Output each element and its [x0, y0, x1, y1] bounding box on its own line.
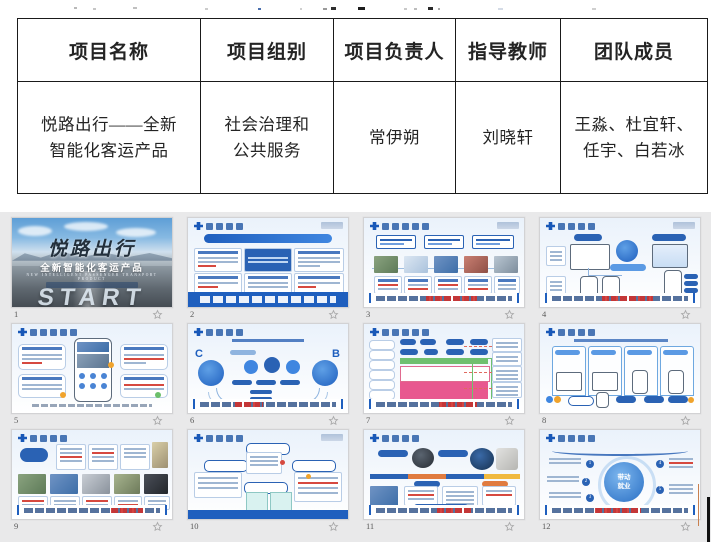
- doc-photo: [152, 442, 168, 468]
- team-members-line-2: 任宇、白若冰: [567, 138, 701, 164]
- slide-number-12: 12: [542, 520, 551, 533]
- photo-thumb: [404, 256, 428, 273]
- phone-photo: [77, 354, 109, 368]
- flow-box: [424, 349, 438, 355]
- flow-box: [470, 349, 488, 355]
- project-group-line-2: 公共服务: [207, 138, 327, 164]
- c-end-label: C: [195, 348, 203, 360]
- phone-icon: [90, 383, 96, 389]
- feature-title: [591, 350, 616, 355]
- tagline-pill: [610, 264, 646, 271]
- slide-6-footer-bar: [193, 399, 343, 409]
- slide-8-heading: [558, 328, 595, 336]
- photo-thumb: [494, 256, 518, 273]
- slide-5-footer-text: [32, 404, 152, 407]
- header-project-group: 项目组别: [201, 19, 334, 82]
- slide-meta-1: 1: [12, 308, 171, 321]
- slide-3-heading: [382, 222, 429, 230]
- sidebar-item: [369, 380, 395, 390]
- content-card: [294, 248, 344, 272]
- point-marker-3: 3: [586, 494, 594, 502]
- slide-6-heading: [206, 328, 243, 336]
- slide-meta-4: 4: [540, 308, 699, 321]
- accent-dot: [280, 460, 285, 465]
- phone-mockup: [632, 370, 648, 394]
- slide-preview-10[interactable]: [187, 429, 349, 520]
- cell-advisor: 刘晓轩: [456, 82, 561, 194]
- slide-2-footer-bar: [188, 292, 348, 307]
- header-project-name: 项目名称: [18, 19, 201, 82]
- slide-8-artwork: [540, 324, 700, 413]
- slide-7-heading: [382, 328, 429, 336]
- cell-project-name: 悦路出行——全新 智能化客运产品: [18, 82, 201, 194]
- slide-number-8: 8: [542, 414, 546, 427]
- slide-preview-12[interactable]: 带动就业 1 2 3 4 5: [539, 429, 701, 520]
- slide-6-subtitle: [232, 339, 304, 342]
- brand-logo-icon: [546, 222, 555, 230]
- photo-thumb: [434, 256, 458, 273]
- photo-thumb: [464, 256, 488, 273]
- brand-logo-icon: [194, 434, 203, 442]
- slide-meta-11: 11: [364, 520, 523, 533]
- slide-2-banner: [204, 234, 332, 243]
- point-text: [544, 474, 582, 486]
- project-group-line-1: 社会治理和: [207, 112, 327, 138]
- slide-thumbnail-grid: 悦路出行 全新智能化客运产品 NEW INTELLIGENT PASSENGER…: [11, 217, 701, 534]
- slide-2-heading: [206, 222, 243, 230]
- phone-icon: [90, 373, 96, 379]
- slide-preview-9[interactable]: [11, 429, 173, 520]
- brand-logo-icon: [370, 434, 379, 442]
- slide-10-heading: [206, 434, 243, 442]
- slide-preview-1[interactable]: 悦路出行 全新智能化客运产品 NEW INTELLIGENT PASSENGER…: [11, 217, 173, 308]
- star-outline-icon[interactable]: [152, 309, 163, 320]
- slide-preview-4[interactable]: [539, 217, 701, 308]
- corner-tag: [497, 222, 519, 229]
- step-pill: [616, 396, 636, 403]
- laptop-icon: [556, 372, 582, 391]
- slide-3-footer-bar: [369, 293, 519, 303]
- content-card: [374, 276, 402, 294]
- table-data-row: 悦路出行——全新 智能化客运产品 社会治理和 公共服务 常伊朔 刘晓轩 王淼、杜…: [18, 82, 708, 194]
- star-outline-icon[interactable]: [152, 521, 163, 532]
- photo-thumb: [370, 486, 398, 506]
- point-text: [666, 456, 696, 470]
- feature-card: [120, 344, 168, 370]
- cell-project-leader: 常伊朔: [334, 82, 456, 194]
- photo-circle: [412, 448, 434, 468]
- point-text: [546, 456, 584, 468]
- project-name-line-1: 悦路出行——全新: [24, 112, 194, 138]
- artifact-speck: [205, 8, 208, 10]
- user-icon: [546, 396, 553, 403]
- slide-preview-7[interactable]: [363, 323, 525, 414]
- slide-meta-3: 3: [364, 308, 523, 321]
- slide-7-footer-bar: [369, 399, 519, 409]
- artifact-speck: [438, 8, 440, 10]
- slide-meta-9: 9: [12, 520, 171, 533]
- slide-number-10: 10: [190, 520, 199, 533]
- slide-meta-7: 7: [364, 414, 523, 427]
- slide-meta-5: 5: [12, 414, 171, 427]
- brand-badge-icon: [616, 240, 638, 262]
- laptop-icon: [570, 244, 610, 270]
- accent-dot: [306, 474, 311, 479]
- flow-box: [446, 339, 464, 345]
- slide-thumbnail-10[interactable]: 10: [187, 429, 349, 534]
- side-pill: [684, 281, 698, 286]
- slide-1-english-subtitle: NEW INTELLIGENT PASSENGER TRANSPORT PROD…: [12, 273, 172, 281]
- slide-thumbnail-9[interactable]: 9: [11, 429, 173, 534]
- slide-number-2: 2: [190, 308, 194, 321]
- step-pill: [644, 396, 664, 403]
- b-end-node: [312, 360, 338, 386]
- slide-number-1: 1: [14, 308, 18, 321]
- slide-thumbnail-3[interactable]: 3: [363, 217, 525, 322]
- flow-box: [420, 339, 436, 345]
- side-pill: [684, 274, 698, 279]
- photo-thumb: [496, 448, 518, 470]
- slide-10-artwork: [188, 430, 348, 519]
- slide-meta-2: 2: [188, 308, 347, 321]
- slide-meta-6: 6: [188, 414, 347, 427]
- sidebar-item: [369, 350, 395, 360]
- feature-card: [18, 374, 66, 398]
- slide-11-artwork: [364, 430, 524, 519]
- brand-logo-icon: [194, 222, 203, 230]
- flow-label: [250, 390, 272, 394]
- project-name-line-2: 智能化客运产品: [24, 138, 194, 164]
- partner-count-tag: [20, 448, 48, 462]
- caption-card: [482, 486, 516, 506]
- column-header: [472, 235, 514, 249]
- phone-icon: [79, 383, 85, 389]
- corner-tag: [321, 222, 343, 229]
- artifact-speck: [498, 8, 503, 10]
- monitor-icon: [652, 244, 688, 268]
- artifact-speck: [93, 8, 96, 10]
- doc-thumb: [120, 444, 150, 470]
- point-text: [546, 490, 584, 502]
- diagram-block: [194, 472, 242, 498]
- annotation-leader-line: [464, 372, 492, 373]
- brand-logo-icon: [18, 434, 27, 442]
- slide-thumbnail-7[interactable]: 7: [363, 323, 525, 428]
- slide-meta-10: 10: [188, 520, 347, 533]
- slide-9-heading: [30, 434, 67, 442]
- slide-8-subtitle: [574, 339, 668, 342]
- laptop-icon: [592, 372, 618, 391]
- slide-5-artwork: [12, 324, 172, 413]
- cell-team-members: 王淼、杜宜轩、 任宇、白若冰: [561, 82, 708, 194]
- content-card: [494, 276, 520, 294]
- slide-1-start-word: START: [11, 284, 173, 308]
- artifact-speck: [133, 7, 137, 9]
- slide-1-subtitle: 全新智能化客运产品: [12, 260, 172, 274]
- slide-preview-6[interactable]: C B: [187, 323, 349, 414]
- slide-preview-11[interactable]: [363, 429, 525, 520]
- vehicle-photo: [18, 474, 46, 494]
- slide-12-heading: [558, 434, 595, 442]
- vehicle-photo: [50, 474, 78, 494]
- timeline-seg: [370, 474, 408, 479]
- phone-icon: [79, 373, 85, 379]
- slide-meta-8: 8: [540, 414, 699, 427]
- doc-thumb: [56, 444, 86, 470]
- slide-1-artwork: 悦路出行 全新智能化客运产品 NEW INTELLIGENT PASSENGER…: [12, 218, 172, 307]
- column-header: [424, 235, 464, 249]
- photo-circle: [470, 448, 494, 470]
- annotation-card: [492, 352, 522, 366]
- sidebar-item: [369, 340, 395, 350]
- slide-7-artwork: [364, 324, 524, 413]
- content-card: [404, 276, 432, 294]
- slide-thumbnail-2[interactable]: 2: [187, 217, 349, 322]
- artifact-speck: [323, 8, 327, 10]
- accent-dot: [108, 362, 114, 368]
- slide-thumbnail-11[interactable]: 11: [363, 429, 525, 534]
- artifact-speck: [74, 7, 77, 9]
- slide-4-heading: [558, 222, 595, 230]
- annotation-card: [492, 382, 522, 398]
- slide-5-heading: [30, 328, 77, 336]
- phone-hero-image: [77, 342, 109, 352]
- brand-logo-icon: [370, 222, 379, 230]
- team-members-line-1: 王淼、杜宜轩、: [567, 112, 701, 138]
- artifact-speck: [404, 8, 407, 10]
- flow-node: [244, 360, 258, 374]
- slide-number-9: 9: [14, 520, 18, 533]
- slide-10-footer-bar: [188, 510, 348, 519]
- corner-tag: [673, 222, 695, 229]
- column-header: [376, 235, 416, 249]
- slide-12-footer-bar: [545, 505, 695, 515]
- feature-title: [663, 350, 688, 355]
- photo-thumb: [374, 256, 398, 273]
- caption-card: [404, 486, 438, 506]
- artifact-speck: [592, 8, 596, 10]
- slide-meta-12: 12: [540, 520, 699, 533]
- header-team-members: 团队成员: [561, 19, 708, 82]
- flow-label: [230, 350, 256, 355]
- user-icon: [554, 396, 561, 403]
- slide-preview-8[interactable]: [539, 323, 701, 414]
- slide-number-3: 3: [366, 308, 370, 321]
- vehicle-photo: [82, 474, 110, 494]
- flow-label: [232, 380, 252, 385]
- step-pill: [668, 396, 688, 403]
- flow-box: [400, 349, 418, 355]
- timeline-seg: [446, 474, 484, 479]
- page-edge-artifact: [707, 497, 710, 542]
- artifact-speck: [358, 7, 365, 10]
- phone-mockup: [596, 392, 609, 408]
- slide-preview-5[interactable]: [11, 323, 173, 414]
- flow-label: [280, 380, 300, 385]
- brand-logo-icon: [194, 328, 203, 336]
- point-marker-4: 4: [656, 460, 664, 468]
- stage-label: [438, 450, 468, 457]
- slide-number-4: 4: [542, 308, 546, 321]
- cell-project-group: 社会治理和 公共服务: [201, 82, 334, 194]
- center-text: 带动就业: [604, 474, 644, 492]
- slide-thumbnail-1[interactable]: 悦路出行 全新智能化客运产品 NEW INTELLIGENT PASSENGER…: [11, 217, 173, 322]
- slide-thumbnail-8[interactable]: 8: [539, 323, 701, 428]
- slide-1-title: 悦路出行: [12, 234, 172, 261]
- badge-label: [292, 460, 336, 472]
- flow-box: [446, 349, 464, 355]
- header-advisor: 指导教师: [456, 19, 561, 82]
- artifact-speck: [300, 8, 302, 10]
- corner-tag: [321, 434, 343, 441]
- b-end-label: B: [332, 348, 340, 360]
- doc-thumb: [88, 444, 118, 470]
- side-label: [546, 246, 566, 266]
- slide-thumbnail-12[interactable]: 带动就业 1 2 3 4 5 12: [539, 429, 701, 534]
- flow-box: [470, 339, 488, 345]
- phone-icon: [101, 383, 107, 389]
- annotation-card: [492, 338, 522, 352]
- star-outline-icon[interactable]: [680, 521, 691, 532]
- annotation-leader-line: [464, 346, 492, 347]
- node-label: [574, 234, 602, 241]
- accent-dot: [155, 392, 161, 398]
- slide-thumbnail-panel: 悦路出行 全新智能化客运产品 NEW INTELLIGENT PASSENGER…: [0, 212, 711, 542]
- slide-9-footer-bar: [17, 505, 167, 515]
- star-outline-icon[interactable]: [328, 309, 339, 320]
- feature-title: [555, 350, 580, 355]
- node-label: [652, 234, 686, 241]
- point-text: [666, 482, 696, 496]
- cloud-shape: [64, 222, 108, 231]
- slide-thumbnail-5[interactable]: 5: [11, 323, 173, 428]
- slide-thumbnail-6[interactable]: C B 6: [187, 323, 349, 428]
- annotation-leader-line: [464, 388, 492, 389]
- slide-4-footer-bar: [545, 293, 695, 303]
- sidebar-item: [369, 370, 395, 380]
- brand-logo-icon: [546, 434, 555, 442]
- star-outline-icon[interactable]: [152, 415, 163, 426]
- star-outline-icon[interactable]: [328, 521, 339, 532]
- flow-node: [286, 360, 300, 374]
- slide-thumbnail-4[interactable]: 4: [539, 217, 701, 322]
- content-card-highlight: [244, 248, 292, 272]
- point-marker-1: 1: [586, 460, 594, 468]
- table-header-row: 项目名称 项目组别 项目负责人 指导教师 团队成员: [18, 19, 708, 82]
- accent-dot: [688, 397, 694, 403]
- highlight-region-green: [472, 358, 492, 404]
- star-outline-icon[interactable]: [680, 309, 691, 320]
- slide-11-heading: [382, 434, 419, 442]
- slide-number-11: 11: [366, 520, 374, 533]
- badge-label: [204, 460, 248, 472]
- artifact-speck: [331, 7, 336, 10]
- star-outline-icon[interactable]: [504, 521, 515, 532]
- timeline-seg: [408, 474, 446, 479]
- feature-title: [627, 350, 652, 355]
- star-outline-icon[interactable]: [680, 415, 691, 426]
- flow-label: [256, 380, 276, 385]
- scrollbar-edge-artifact: [698, 484, 700, 526]
- top-artifact-strip: [0, 0, 711, 13]
- sidebar-item: [369, 360, 395, 370]
- slide-number-5: 5: [14, 414, 18, 427]
- slide-preview-2[interactable]: [187, 217, 349, 308]
- brand-logo-icon: [18, 328, 27, 336]
- flow-box: [400, 339, 416, 345]
- timeline-seg: [484, 474, 520, 479]
- content-card: [434, 276, 462, 294]
- project-info-table: 项目名称 项目组别 项目负责人 指导教师 团队成员 悦路出行——全新 智能化客运…: [17, 18, 708, 194]
- annotation-card: [492, 366, 522, 382]
- slide-11-footer-bar: [369, 505, 519, 515]
- phone-mockup: [668, 370, 684, 394]
- slide-number-7: 7: [366, 414, 370, 427]
- slide-9-artwork: [12, 430, 172, 519]
- slide-preview-3[interactable]: [363, 217, 525, 308]
- certificate-thumb: [294, 472, 342, 502]
- flow-node: [264, 357, 280, 373]
- slide-3-artwork: [364, 218, 524, 307]
- feature-card: [18, 344, 66, 370]
- point-marker-2: 2: [582, 478, 590, 486]
- star-outline-icon[interactable]: [504, 309, 515, 320]
- step-pill: [568, 396, 594, 406]
- stage-label: [378, 450, 408, 457]
- slide-6-artwork: C B: [188, 324, 348, 413]
- artifact-speck: [414, 8, 417, 10]
- slide-12-artwork: 带动就业 1 2 3 4 5: [540, 430, 700, 519]
- phone-icon: [101, 373, 107, 379]
- certificate-thumb: [246, 452, 282, 474]
- artifact-speck: [258, 8, 261, 10]
- vehicle-photo: [114, 474, 140, 494]
- c-end-node: [198, 360, 224, 386]
- star-outline-icon[interactable]: [504, 415, 515, 426]
- vehicle-photo: [144, 474, 168, 494]
- brand-logo-icon: [546, 328, 555, 336]
- phone-mockup: [74, 338, 112, 402]
- slide-2-artwork: [188, 218, 348, 307]
- slide-number-6: 6: [190, 414, 194, 427]
- top-arc: [552, 446, 688, 456]
- brand-logo-icon: [370, 328, 379, 336]
- slide-4-artwork: [540, 218, 700, 307]
- accent-dot: [60, 392, 66, 398]
- point-marker-5: 5: [656, 486, 664, 494]
- header-project-leader: 项目负责人: [334, 19, 456, 82]
- star-outline-icon[interactable]: [328, 415, 339, 426]
- content-card: [194, 248, 242, 272]
- content-card: [464, 276, 492, 294]
- artifact-speck: [428, 7, 433, 10]
